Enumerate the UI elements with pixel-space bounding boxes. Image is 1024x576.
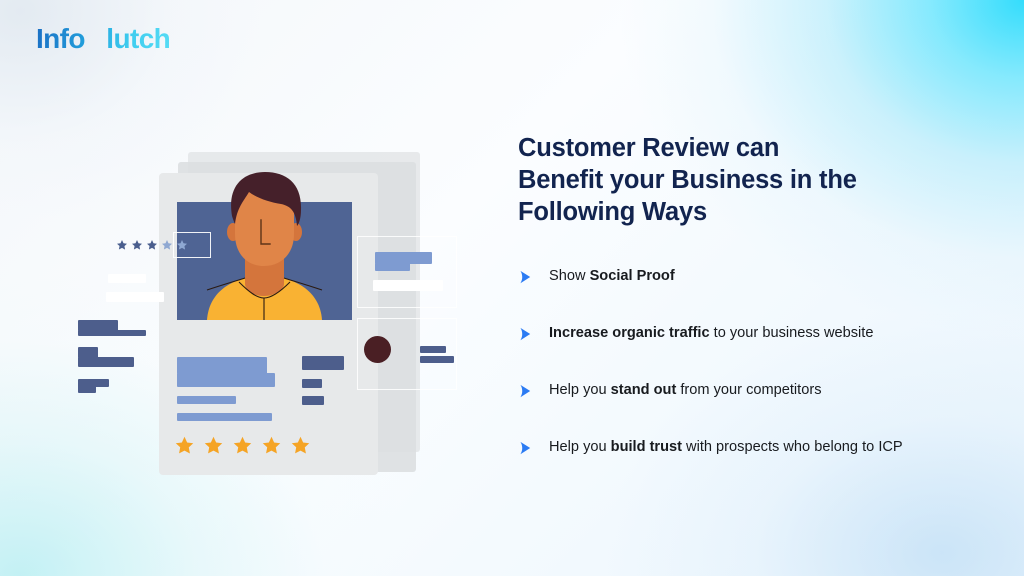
star-icon-filled bbox=[261, 435, 282, 456]
placeholder-bar-blue bbox=[375, 263, 410, 271]
arrow-right-icon bbox=[518, 440, 533, 456]
headline-line-1: Customer Review can bbox=[518, 134, 779, 162]
floating-frame-top bbox=[357, 236, 457, 308]
list-item: Increase organic traffic to your busines… bbox=[518, 323, 988, 344]
placeholder-bar-navy bbox=[302, 356, 344, 370]
star-icon-filled bbox=[290, 435, 311, 456]
customer-review-illustration bbox=[70, 140, 480, 500]
placeholder-bar-blue bbox=[177, 413, 272, 421]
list-item: Help you build trust with prospects who … bbox=[518, 437, 988, 458]
bullet-2-bold: stand out bbox=[611, 382, 677, 398]
logo-text-clutch: lutch bbox=[106, 23, 170, 54]
placeholder-bar-navy bbox=[420, 356, 454, 363]
maroon-circle-icon bbox=[364, 336, 391, 363]
list-item: Show Social Proof bbox=[518, 266, 988, 287]
bullet-1-post: to your business website bbox=[710, 325, 874, 341]
list-item-text: Help you stand out from your competitors bbox=[549, 380, 822, 401]
placeholder-bar-white bbox=[108, 274, 146, 283]
placeholder-bar-navy bbox=[78, 385, 96, 393]
placeholder-bar-white bbox=[373, 280, 443, 291]
star-rating-highlight-frame bbox=[173, 232, 211, 258]
page-title: Customer Review can Benefit your Busines… bbox=[518, 132, 988, 228]
placeholder-bar-navy bbox=[78, 357, 134, 367]
bullet-2-post: from your competitors bbox=[676, 382, 821, 398]
bullet-0-bold: Social Proof bbox=[590, 268, 675, 284]
star-icon-filled bbox=[232, 435, 253, 456]
placeholder-bar-navy bbox=[302, 396, 324, 405]
infinity-mark-icon: ∞ bbox=[83, 25, 109, 53]
star-icon-filled bbox=[131, 239, 143, 251]
slide-canvas: Info∞lutch bbox=[0, 0, 1024, 576]
placeholder-bar-blue bbox=[177, 396, 236, 404]
bullet-1-bold: Increase organic traffic bbox=[549, 325, 710, 341]
star-icon-filled bbox=[146, 239, 158, 251]
bullet-3-bold: build trust bbox=[611, 439, 682, 455]
placeholder-bar-navy bbox=[302, 379, 322, 388]
placeholder-bar-white bbox=[106, 292, 164, 302]
placeholder-bar-blue bbox=[177, 357, 267, 374]
star-icon-filled bbox=[174, 435, 195, 456]
placeholder-bar-blue bbox=[177, 373, 275, 387]
list-item-text: Increase organic traffic to your busines… bbox=[549, 323, 873, 344]
bullet-0-pre: Show bbox=[549, 268, 590, 284]
five-star-rating bbox=[174, 435, 311, 456]
list-item: Help you stand out from your competitors bbox=[518, 380, 988, 401]
arrow-right-icon bbox=[518, 269, 533, 285]
arrow-right-icon bbox=[518, 383, 533, 399]
list-item-text: Help you build trust with prospects who … bbox=[549, 437, 903, 458]
headline-line-3: Following Ways bbox=[518, 198, 707, 226]
bullet-3-post: with prospects who belong to ICP bbox=[682, 439, 903, 455]
star-icon-empty bbox=[161, 239, 173, 251]
list-item-text: Show Social Proof bbox=[549, 266, 675, 287]
bullet-2-pre: Help you bbox=[549, 382, 611, 398]
placeholder-meta-block bbox=[302, 356, 352, 405]
infoclutch-logo[interactable]: Info∞lutch bbox=[36, 25, 170, 53]
content-column: Customer Review can Benefit your Busines… bbox=[518, 132, 988, 457]
bullet-3-pre: Help you bbox=[549, 439, 611, 455]
placeholder-bar-navy bbox=[420, 346, 446, 353]
logo-text-info: Info bbox=[36, 23, 85, 54]
star-icon-filled bbox=[203, 435, 224, 456]
arrow-right-icon bbox=[518, 326, 533, 342]
star-icon-filled bbox=[116, 239, 128, 251]
headline-line-2: Benefit your Business in the bbox=[518, 166, 857, 194]
placeholder-bar-navy bbox=[78, 330, 146, 336]
benefits-list: Show Social Proof Increase organic traff… bbox=[518, 266, 988, 457]
